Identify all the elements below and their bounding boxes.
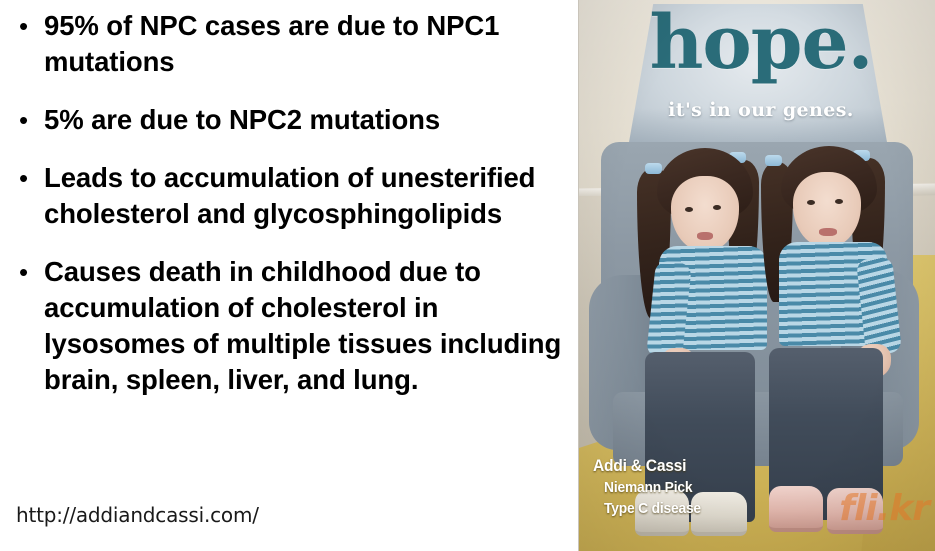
bullet-text-4: Causes death in childhood due to accumul… bbox=[44, 254, 572, 398]
bullet-item-2: • 5% are due to NPC2 mutations bbox=[14, 102, 572, 138]
bullet-text-3: Leads to accumulation of unesterified ch… bbox=[44, 160, 572, 232]
presentation-slide: • 95% of NPC cases are due to NPC1 mutat… bbox=[0, 0, 935, 551]
bullet-text-2: 5% are due to NPC2 mutations bbox=[44, 102, 572, 138]
bullet-item-1: • 95% of NPC cases are due to NPC1 mutat… bbox=[14, 8, 572, 80]
bullet-item-4: • Causes death in childhood due to accum… bbox=[14, 254, 572, 398]
bullet-marker-icon: • bbox=[14, 160, 44, 196]
photo-caption-block: Addi & Cassi Niemann Pick Type C disease bbox=[593, 455, 793, 519]
hope-tagline: it's in our genes. bbox=[641, 98, 881, 122]
caption-disease-line-2: Type C disease bbox=[593, 498, 777, 519]
eye-left bbox=[685, 207, 693, 212]
bullet-item-3: • Leads to accumulation of unesterified … bbox=[14, 160, 572, 232]
shoe-right-child-b bbox=[827, 488, 883, 534]
photo-addi-and-cassi: hope. it's in our genes. bbox=[578, 0, 935, 551]
hope-wordmark: hope. bbox=[641, 2, 881, 84]
hair-bow-left bbox=[645, 163, 662, 174]
bullet-list: • 95% of NPC cases are due to NPC1 mutat… bbox=[14, 8, 572, 398]
bullet-marker-icon: • bbox=[14, 102, 44, 138]
eye-left bbox=[807, 200, 815, 205]
hair-bow-left bbox=[765, 155, 782, 166]
bullet-marker-icon: • bbox=[14, 254, 44, 290]
caption-child-names: Addi & Cassi bbox=[593, 455, 777, 477]
mouth-left-child bbox=[697, 232, 713, 240]
bullet-text-1: 95% of NPC cases are due to NPC1 mutatio… bbox=[44, 8, 572, 80]
mouth-right-child bbox=[819, 228, 837, 236]
caption-disease-line-1: Niemann Pick bbox=[593, 477, 777, 498]
slide-text-column: • 95% of NPC cases are due to NPC1 mutat… bbox=[0, 0, 578, 551]
eye-right bbox=[713, 205, 721, 210]
source-url-link[interactable]: http://addiandcassi.com/ bbox=[16, 503, 259, 527]
eye-right bbox=[835, 199, 843, 204]
bullet-marker-icon: • bbox=[14, 8, 44, 44]
